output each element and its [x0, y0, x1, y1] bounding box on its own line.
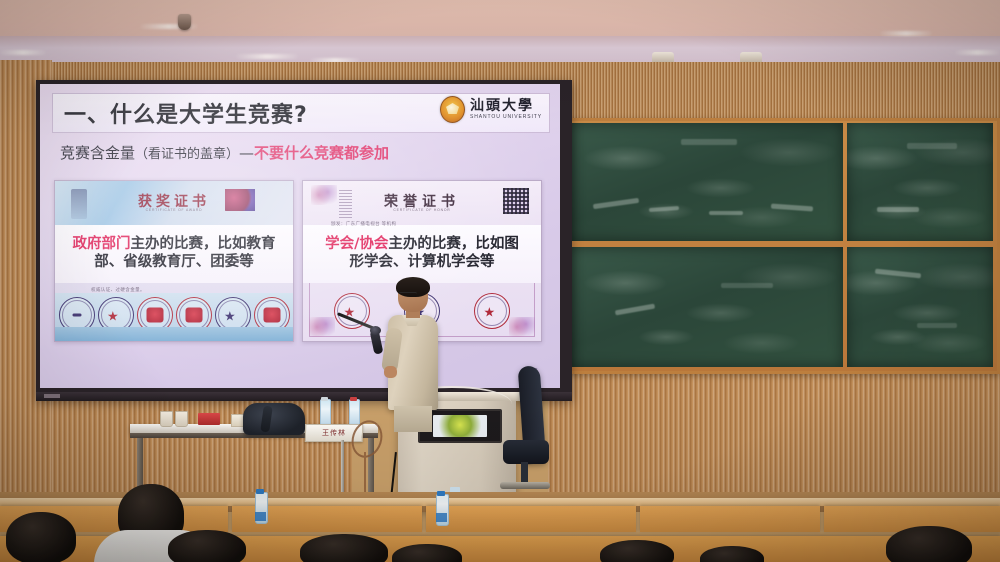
audience-head [6, 512, 76, 562]
ceiling-light [0, 50, 46, 55]
subtitle-paren: （看证书的盖章） [135, 147, 239, 162]
paper-cup [160, 411, 173, 427]
bottle-cap [437, 491, 445, 496]
official-stamp: ★ [474, 293, 510, 329]
presenter [382, 280, 444, 430]
certificate-header-government: 获奖证书 CERTIFICATE OF AWARD [55, 181, 293, 227]
red-box [198, 413, 220, 425]
certificate-highlight: 学会/协会 [325, 236, 388, 252]
certificate-highlight: 政府部门 [73, 236, 131, 252]
flower-ornament-icon [509, 317, 535, 337]
certificate-line-rest: 主办的比赛，比如教育 [131, 236, 276, 252]
projection-screen: 一、什么是大学生竞赛? 汕頭大學 SHANTOU UNIVERSITY 竞赛含金… [36, 80, 572, 400]
water-bottle [320, 399, 331, 427]
lecture-hall-photo: 一、什么是大学生竞赛? 汕頭大學 SHANTOU UNIVERSITY 竞赛含金… [0, 0, 1000, 562]
chalkboard-panel [847, 247, 993, 367]
chalkboard-panel [571, 123, 843, 241]
bottle-label [255, 512, 266, 521]
screen-base-tab [44, 394, 60, 398]
audience-desk [640, 506, 820, 532]
certificate-card-government: 获奖证书 CERTIFICATE OF AWARD 政府部门主办的比赛，比如教育… [54, 180, 294, 342]
certificate-title-en: CERTIFICATE OF AWARD [146, 208, 203, 212]
backpack [243, 403, 305, 435]
presenter-hand [384, 366, 397, 378]
audience-desk [426, 506, 636, 532]
office-chair-base [500, 482, 550, 489]
ceiling-light [880, 31, 932, 36]
office-chair-seat [503, 440, 549, 464]
bottle-cap [350, 397, 357, 401]
ceiling-light [955, 50, 1000, 55]
office-chair-post [521, 462, 528, 484]
ceiling-spotlight-icon [178, 14, 191, 30]
bottle-cap [256, 489, 264, 494]
name-plate-text: 王传林 [322, 428, 346, 438]
audience-head [600, 540, 674, 562]
certificate-body-association: 学会/协会主办的比赛，比如图 形学会、计算机学会等 [303, 225, 541, 283]
ceiling-light [236, 54, 298, 59]
paper-cup [175, 411, 188, 427]
university-name-cn: 汕頭大學 [470, 99, 542, 113]
ceiling [0, 0, 1000, 62]
audience-head [168, 530, 246, 562]
certificate-figure-icon [71, 189, 87, 219]
subtitle-lead: 竞赛含金量 [60, 144, 135, 162]
certificate-body-government: 政府部门主办的比赛，比如教育 部、省级教育厅、团委等 [55, 225, 293, 283]
university-emblem-icon [440, 96, 465, 123]
certificate-line-2: 形学会、计算机学会等 [350, 254, 495, 272]
slide-title: 一、什么是大学生竞赛? [64, 97, 308, 129]
certificate-side-text [339, 190, 352, 218]
chalkboard-panel [571, 247, 843, 367]
university-logo: 汕頭大學 SHANTOU UNIVERSITY [440, 96, 542, 123]
certificate-line-1: 学会/协会主办的比赛，比如图 [325, 236, 519, 254]
right-wood-wall [548, 360, 1000, 510]
certificate-wave [55, 327, 293, 341]
audience-head [392, 544, 462, 562]
subtitle-accent: 不要什么竞赛都参加 [254, 144, 389, 162]
audience-head [300, 534, 388, 562]
certificate-ribbon-icon [225, 189, 255, 211]
flower-ornament-icon [309, 317, 335, 337]
subtitle-dash: — [239, 144, 254, 162]
certificate-line-2: 部、省级教育厅、团委等 [94, 254, 254, 272]
university-name-en: SHANTOU UNIVERSITY [470, 115, 542, 120]
presenter-lower-body [394, 406, 432, 432]
slide-subtitle: 竞赛含金量（看证书的盖章）—不要什么竞赛都参加 [60, 142, 389, 163]
qr-code-icon [503, 188, 529, 214]
certificate-title-en: CERTIFICATE OF HONOR [393, 208, 450, 212]
chalkboard-panel [847, 123, 993, 241]
glasses-icon [399, 292, 417, 298]
microphone-head-icon [370, 326, 381, 335]
slide-surface: 一、什么是大学生竞赛? 汕頭大學 SHANTOU UNIVERSITY 竞赛含金… [40, 84, 560, 388]
audience-head [886, 526, 972, 562]
water-bottle [349, 399, 360, 427]
ceiling-band [0, 36, 1000, 62]
flower-ornament-icon [311, 185, 337, 205]
bottle-label [436, 513, 447, 522]
certificate-line-1: 政府部门主办的比赛，比如教育 [73, 236, 276, 254]
certificate-line-rest: 主办的比赛，比如图 [388, 236, 519, 252]
certificate-note: 颁发：广东广播电视台 等机构 [331, 221, 396, 227]
bottle-cap [321, 397, 328, 401]
green-chalkboard [566, 118, 1000, 374]
